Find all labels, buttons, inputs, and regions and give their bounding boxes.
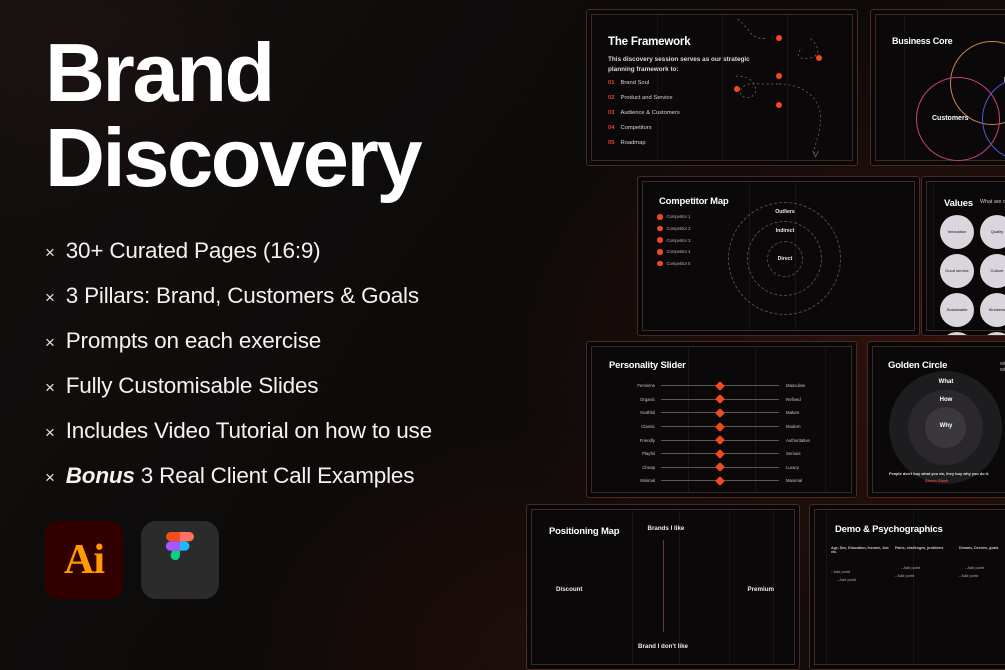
slider-label-left: Playful [606, 451, 661, 456]
slider-knob[interactable] [715, 394, 725, 404]
demographics-column: Pains, challenges, problems - Add point … [895, 546, 959, 585]
axis-label-left: Discount [556, 586, 582, 593]
slide-frame: Positioning Map Brands I like Brand I do… [531, 509, 795, 665]
column-header: Age, Sex, Education, Income, Job etc. [831, 546, 895, 554]
list-item: × Fully Customisable Slides [45, 375, 565, 398]
list-item-label: 3 Real Client Call Examples [141, 463, 414, 488]
legend-dot-icon [657, 226, 663, 232]
demographics-column: Age, Sex, Education, Income, Job etc. - … [831, 546, 895, 585]
demographics-columns: Age, Sex, Education, Income, Job etc. - … [831, 546, 1005, 585]
slide-card-positioning-map[interactable]: Positioning Map Brands I like Brand I do… [526, 504, 800, 670]
column-row: - Add point [831, 568, 895, 576]
axis-label-right: Premium [748, 586, 774, 593]
axis-vertical [663, 540, 664, 632]
slide-card-framework[interactable]: The Framework This discovery session ser… [586, 9, 858, 166]
legend-dot-icon [657, 261, 663, 267]
column-row: - Add point [831, 576, 895, 584]
value-circle: Disruptive [980, 332, 1005, 336]
path-node-dot [816, 55, 822, 61]
legend-label: Competitor 4 [667, 249, 691, 254]
value-circle: Good service [940, 254, 974, 288]
slider-row[interactable]: Friendly Authoritative [606, 433, 841, 447]
axis-label-top: Brands I like [648, 525, 685, 532]
list-item-bonus: × Bonus 3 Real Client Call Examples [45, 465, 565, 488]
slide-title: Business Core [892, 36, 952, 46]
ring-label-direct: Direct [755, 256, 815, 262]
slide-frame: Golden Circle What How Why What is our W… [872, 346, 1005, 493]
value-circle: Customer first [940, 332, 974, 336]
software-badges: Ai [45, 521, 565, 599]
slider-track[interactable] [661, 480, 779, 481]
slider-track[interactable] [661, 399, 779, 400]
slide-card-business-core[interactable]: Business Core Brand Customers [870, 9, 1005, 166]
axis-label-bottom: Brand I don't like [638, 643, 688, 650]
column-header: Dreams, Desires, goals [959, 546, 1005, 550]
column-header: Pains, challenges, problems [895, 546, 959, 550]
hero-panel: Brand Discovery × 30+ Curated Pages (16:… [45, 34, 565, 599]
list-item: Competitor 2 [657, 226, 690, 232]
slider-row[interactable]: Classic Modern [606, 420, 841, 434]
slider-knob[interactable] [715, 435, 725, 445]
slide-frame: Competitor Map Competitor 1 Competitor 2… [642, 181, 915, 331]
column-row: - Add point [959, 564, 1005, 572]
list-item-label: Fully Customisable Slides [66, 375, 319, 398]
slider-label-right: Mature [779, 410, 841, 415]
adobe-illustrator-label: Ai [64, 539, 104, 581]
path-node-dot [776, 102, 782, 108]
slide-question: What are our [980, 199, 1005, 205]
legend-label: Competitor 5 [667, 261, 691, 266]
slider-label-left: Feminine [606, 383, 661, 388]
column-row: - Add point [895, 564, 959, 572]
cross-icon: × [45, 334, 55, 351]
slider-row[interactable]: Feminine Masculine [606, 379, 841, 393]
venn-label-customers: Customers [932, 115, 969, 122]
slider-knob[interactable] [715, 476, 725, 486]
slide-frame: Personality Slider Feminine Masculine Or… [591, 346, 852, 493]
slide-frame: Demo & Psychographics Age, Sex, Educatio… [814, 509, 1005, 665]
slide-card-values[interactable]: Values What are our Innovation Quality G… [921, 176, 1005, 336]
path-node-dot [776, 73, 782, 79]
values-circle-grid: Innovation Quality Good service Culture … [940, 215, 1005, 336]
slide-frame: Business Core Brand Customers [875, 14, 1005, 161]
value-circle: Culture [980, 254, 1005, 288]
slider-knob[interactable] [715, 408, 725, 418]
demographics-column: Dreams, Desires, goals - Add point - Add… [959, 546, 1005, 585]
slider-track[interactable] [661, 385, 779, 386]
slider-knob[interactable] [715, 462, 725, 472]
slider-track[interactable] [661, 426, 779, 427]
page-title-line-1: Brand [45, 34, 565, 113]
legend-dot-icon [657, 214, 663, 220]
cross-icon: × [45, 379, 55, 396]
slide-card-demographics[interactable]: Demo & Psychographics Age, Sex, Educatio… [809, 504, 1005, 670]
list-item: × Includes Video Tutorial on how to use [45, 420, 565, 443]
slider-track[interactable] [661, 467, 779, 468]
bonus-emphasis: Bonus [66, 463, 135, 488]
legend-dot-icon [657, 249, 663, 255]
ring-label-indirect: Indirect [755, 228, 815, 234]
slide-title: Values [944, 198, 973, 209]
framework-path-decoration [592, 15, 852, 162]
cross-icon: × [45, 469, 55, 486]
ring-label-outliers: Outliers [755, 209, 815, 215]
slide-title: Demo & Psychographics [835, 524, 943, 535]
list-item: × Prompts on each exercise [45, 330, 565, 353]
slide-frame: The Framework This discovery session ser… [591, 14, 853, 161]
slider-row[interactable]: Organic Refined [606, 393, 841, 407]
slide-title: Competitor Map [659, 196, 729, 207]
slide-title: Positioning Map [549, 526, 619, 537]
slider-track[interactable] [661, 453, 779, 454]
page-title-line-2: Discovery [45, 119, 565, 198]
slide-title: Personality Slider [609, 360, 686, 371]
list-item: Competitor 5 [657, 261, 690, 267]
list-item: Competitor 3 [657, 237, 690, 243]
list-item-label: 30+ Curated Pages (16:9) [66, 240, 321, 263]
slider-row[interactable]: Playful Serious [606, 447, 841, 461]
slide-card-competitor-map[interactable]: Competitor Map Competitor 1 Competitor 2… [637, 176, 920, 336]
legend-label: Competitor 3 [667, 238, 691, 243]
legend-label: Competitor 2 [667, 226, 691, 231]
list-item: × 30+ Curated Pages (16:9) [45, 240, 565, 263]
slider-label-right: Luxury [779, 465, 841, 470]
cross-icon: × [45, 424, 55, 441]
quote-author: Simon Sinek [925, 478, 948, 483]
slider-label-left: Organic [606, 397, 661, 402]
slider-label-right: Masculine [779, 383, 841, 388]
quote-text: People don't buy what you do, they buy w… [889, 471, 989, 476]
slider-knob[interactable] [715, 449, 725, 459]
slider-label-left: Cheap [606, 465, 661, 470]
list-item-label: 3 Pillars: Brand, Customers & Goals [66, 285, 419, 308]
golden-label-what: What [916, 379, 976, 385]
slider-label-left: Youthful [606, 410, 661, 415]
legend-dot-icon [657, 237, 663, 243]
cross-icon: × [45, 289, 55, 306]
slider-label-right: Authoritative [779, 438, 841, 443]
slider-label-right: Modern [779, 424, 841, 429]
slide-title: Golden Circle [888, 360, 947, 371]
slide-side-note: What is our Why? [1000, 361, 1005, 374]
path-node-dot [734, 86, 740, 92]
golden-label-why: Why [916, 423, 976, 429]
slider-label-left: Friendly [606, 438, 661, 443]
cross-icon: × [45, 244, 55, 261]
slide-frame: Values What are our Innovation Quality G… [926, 181, 1005, 331]
feature-list: × 30+ Curated Pages (16:9) × 3 Pillars: … [45, 240, 565, 488]
adobe-illustrator-icon[interactable]: Ai [45, 521, 123, 599]
value-circle: Innovation [940, 215, 974, 249]
slider-row[interactable]: Youthful Mature [606, 406, 841, 420]
slider-label-right: Refined [779, 397, 841, 402]
slide-card-personality-slider[interactable]: Personality Slider Feminine Masculine Or… [586, 341, 857, 498]
list-item: Competitor 4 [657, 249, 690, 255]
slider-knob[interactable] [715, 422, 725, 432]
column-row: - Add point [959, 572, 1005, 580]
list-item-label: Prompts on each exercise [66, 330, 321, 353]
slider-track[interactable] [661, 412, 779, 413]
golden-label-how: How [916, 397, 976, 403]
value-circle: Kindness [980, 293, 1005, 327]
slider-label-left: Classic [606, 424, 661, 429]
figma-logo-glyph [161, 532, 199, 588]
slider-label-right: Maximal [779, 478, 841, 483]
list-item: Competitor 1 [657, 214, 690, 220]
slider-row[interactable]: Cheap Luxury [606, 461, 841, 475]
value-circle: Quality [980, 215, 1005, 249]
slider-row[interactable]: Minimal Maximal [606, 474, 841, 488]
legend-label: Competitor 1 [667, 214, 691, 219]
slider-knob[interactable] [715, 381, 725, 391]
list-item-label: Includes Video Tutorial on how to use [66, 420, 432, 443]
figma-icon[interactable] [141, 521, 219, 599]
value-circle: Sustainable [940, 293, 974, 327]
slide-card-golden-circle[interactable]: Golden Circle What How Why What is our W… [867, 341, 1005, 498]
slider-label-right: Serious [779, 451, 841, 456]
slider-label-left: Minimal [606, 478, 661, 483]
competitor-legend: Competitor 1 Competitor 2 Competitor 3 C… [657, 214, 690, 272]
column-row: - Add point [895, 572, 959, 580]
list-item: × 3 Pillars: Brand, Customers & Goals [45, 285, 565, 308]
slider-track[interactable] [661, 440, 779, 441]
personality-slider-rows: Feminine Masculine Organic Refined Youth… [606, 379, 841, 488]
path-node-dot [776, 35, 782, 41]
